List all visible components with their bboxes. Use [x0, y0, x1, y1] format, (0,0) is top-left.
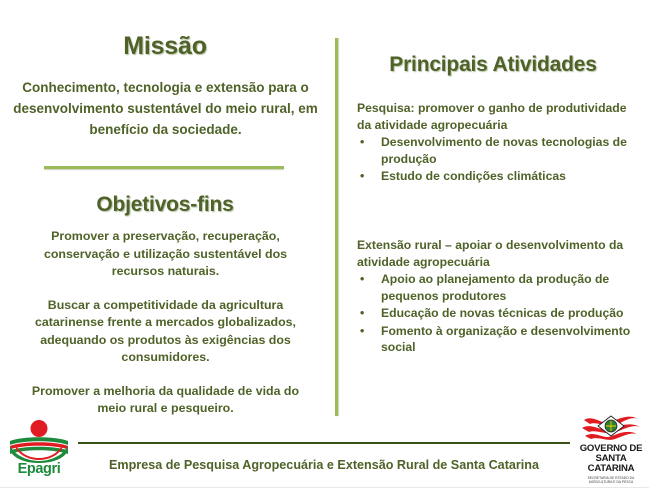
epagri-sun-fields-icon — [8, 419, 70, 463]
bullet-icon: • — [360, 323, 364, 340]
list-item-label: Educação de novas técnicas de produção — [381, 306, 623, 320]
left-section-divider — [44, 166, 284, 169]
activity-bullet-list: • Desenvolvimento de novas tecnologias d… — [357, 134, 640, 185]
right-column: Principais Atividades Pesquisa: promover… — [348, 0, 649, 420]
bullet-icon: • — [360, 134, 364, 151]
governo-santa-catarina-logo: GOVERNO DE SANTA CATARINA SECRETARIA DE … — [578, 412, 644, 482]
activity-group-lead: Pesquisa: promover o ganho de produtivid… — [357, 100, 640, 133]
governo-name: GOVERNO DE SANTA CATARINA — [578, 444, 644, 475]
epagri-logo: Epagri — [8, 419, 70, 481]
list-item: • Fomento à organização e desenvolviment… — [357, 323, 640, 356]
slide-canvas: Missão Conhecimento, tecnologia e extens… — [0, 0, 649, 488]
activities-title: Principais Atividades — [348, 52, 638, 77]
objective-item: Buscar a competitividade da agricultura … — [18, 297, 313, 367]
footer-divider — [78, 442, 570, 444]
activity-bullet-list: • Apoio ao planejamento da produção de p… — [357, 271, 640, 356]
left-column: Missão Conhecimento, tecnologia e extens… — [0, 0, 330, 420]
epagri-wordmark: Epagri — [8, 461, 70, 477]
objective-item: Promover a melhoria da qualidade de vida… — [18, 383, 313, 418]
list-item: • Apoio ao planejamento da produção de p… — [357, 271, 640, 304]
list-item: • Educação de novas técnicas de produção — [357, 305, 640, 322]
bullet-icon: • — [360, 168, 364, 185]
objective-item: Promover a preservação, recuperação, con… — [18, 228, 313, 281]
bullet-icon: • — [360, 271, 364, 288]
mission-text: Conhecimento, tecnologia e extensão para… — [8, 77, 323, 140]
santa-catarina-flag-icon — [578, 412, 644, 444]
activity-group-extensao: Extensão rural – apoiar o desenvolviment… — [357, 237, 640, 357]
list-item: • Desenvolvimento de novas tecnologias d… — [357, 134, 640, 167]
bullet-icon: • — [360, 305, 364, 322]
list-item: • Estudo de condições climáticas — [357, 168, 640, 185]
list-item-label: Fomento à organização e desenvolvimento … — [381, 324, 630, 355]
list-item-label: Estudo de condições climáticas — [381, 169, 566, 183]
activity-group-lead: Extensão rural – apoiar o desenvolviment… — [357, 237, 640, 270]
column-divider — [335, 38, 338, 416]
activity-group-pesquisa: Pesquisa: promover o ganho de produtivid… — [357, 100, 640, 186]
objectives-title: Objetivos-fins — [0, 192, 330, 217]
objectives-list: Promover a preservação, recuperação, con… — [18, 228, 313, 418]
governo-subtitle: SECRETARIA DE ESTADO DA AGRICULTURA E DA… — [578, 476, 644, 484]
footer-company-name: Empresa de Pesquisa Agropecuária e Exten… — [78, 458, 570, 472]
mission-title: Missão — [0, 32, 330, 60]
list-item-label: Apoio ao planejamento da produção de peq… — [381, 272, 609, 303]
list-item-label: Desenvolvimento de novas tecnologias de … — [381, 135, 627, 166]
